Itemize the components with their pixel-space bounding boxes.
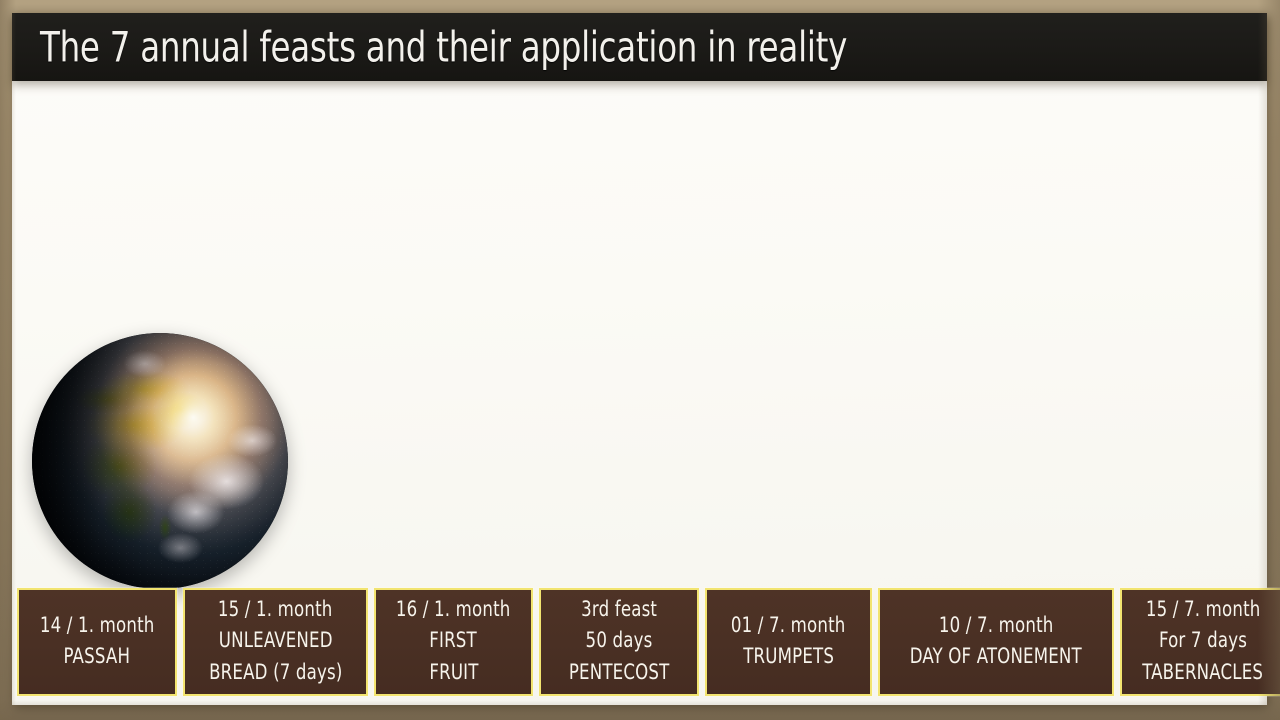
feast-date: 15 / 1. month [218,594,333,626]
feast-box-passah[interactable]: 14 / 1. month PASSAH [17,588,177,696]
feast-date: 10 / 7. month [939,610,1054,642]
feast-date: 16 / 1. month [396,594,511,626]
feast-name-line-2: FRUIT [429,657,478,689]
slide-canvas: The 7 annual feasts and their applicatio… [12,13,1267,705]
feast-box-first-fruit[interactable]: 16 / 1. month FIRST FRUIT [374,588,533,696]
feast-date: 3rd feast [581,594,657,626]
feast-name-line-1: For 7 days [1159,625,1247,657]
feast-name-line-1: FIRST [430,625,478,657]
feast-box-tabernacles[interactable]: 15 / 7. month For 7 days TABERNACLES [1120,588,1280,696]
feast-name-line-1: PASSAH [64,641,131,673]
feast-box-pentecost[interactable]: 3rd feast 50 days PENTECOST [539,588,699,696]
feast-box-day-of-atonement[interactable]: 10 / 7. month DAY OF ATONEMENT [878,588,1114,696]
feast-name-line-1: 50 days [586,625,653,657]
earth-globe-image [32,333,288,589]
feast-box-trumpets[interactable]: 01 / 7. month TRUMPETS [705,588,872,696]
globe-sphere [32,333,288,589]
slide-title: The 7 annual feasts and their applicatio… [40,23,847,72]
feast-date: 01 / 7. month [731,610,846,642]
feast-timeline: 14 / 1. month PASSAH 15 / 1. month UNLEA… [14,588,1265,696]
feast-name-line-1: DAY OF ATONEMENT [910,641,1082,673]
feast-name-line-1: UNLEAVENED [219,625,333,657]
feast-name-line-1: TRUMPETS [743,641,834,673]
feast-name-line-2: PENTECOST [569,657,670,689]
globe-terminator-shadow [32,333,288,589]
slide-title-bar: The 7 annual feasts and their applicatio… [12,13,1267,81]
feast-date: 14 / 1. month [40,610,155,642]
feast-name-line-2: BREAD (7 days) [209,657,342,689]
feast-box-unleavened-bread[interactable]: 15 / 1. month UNLEAVENED BREAD (7 days) [183,588,368,696]
feast-date: 15 / 7. month [1146,594,1261,626]
feast-name-line-2: TABERNACLES [1143,657,1264,689]
